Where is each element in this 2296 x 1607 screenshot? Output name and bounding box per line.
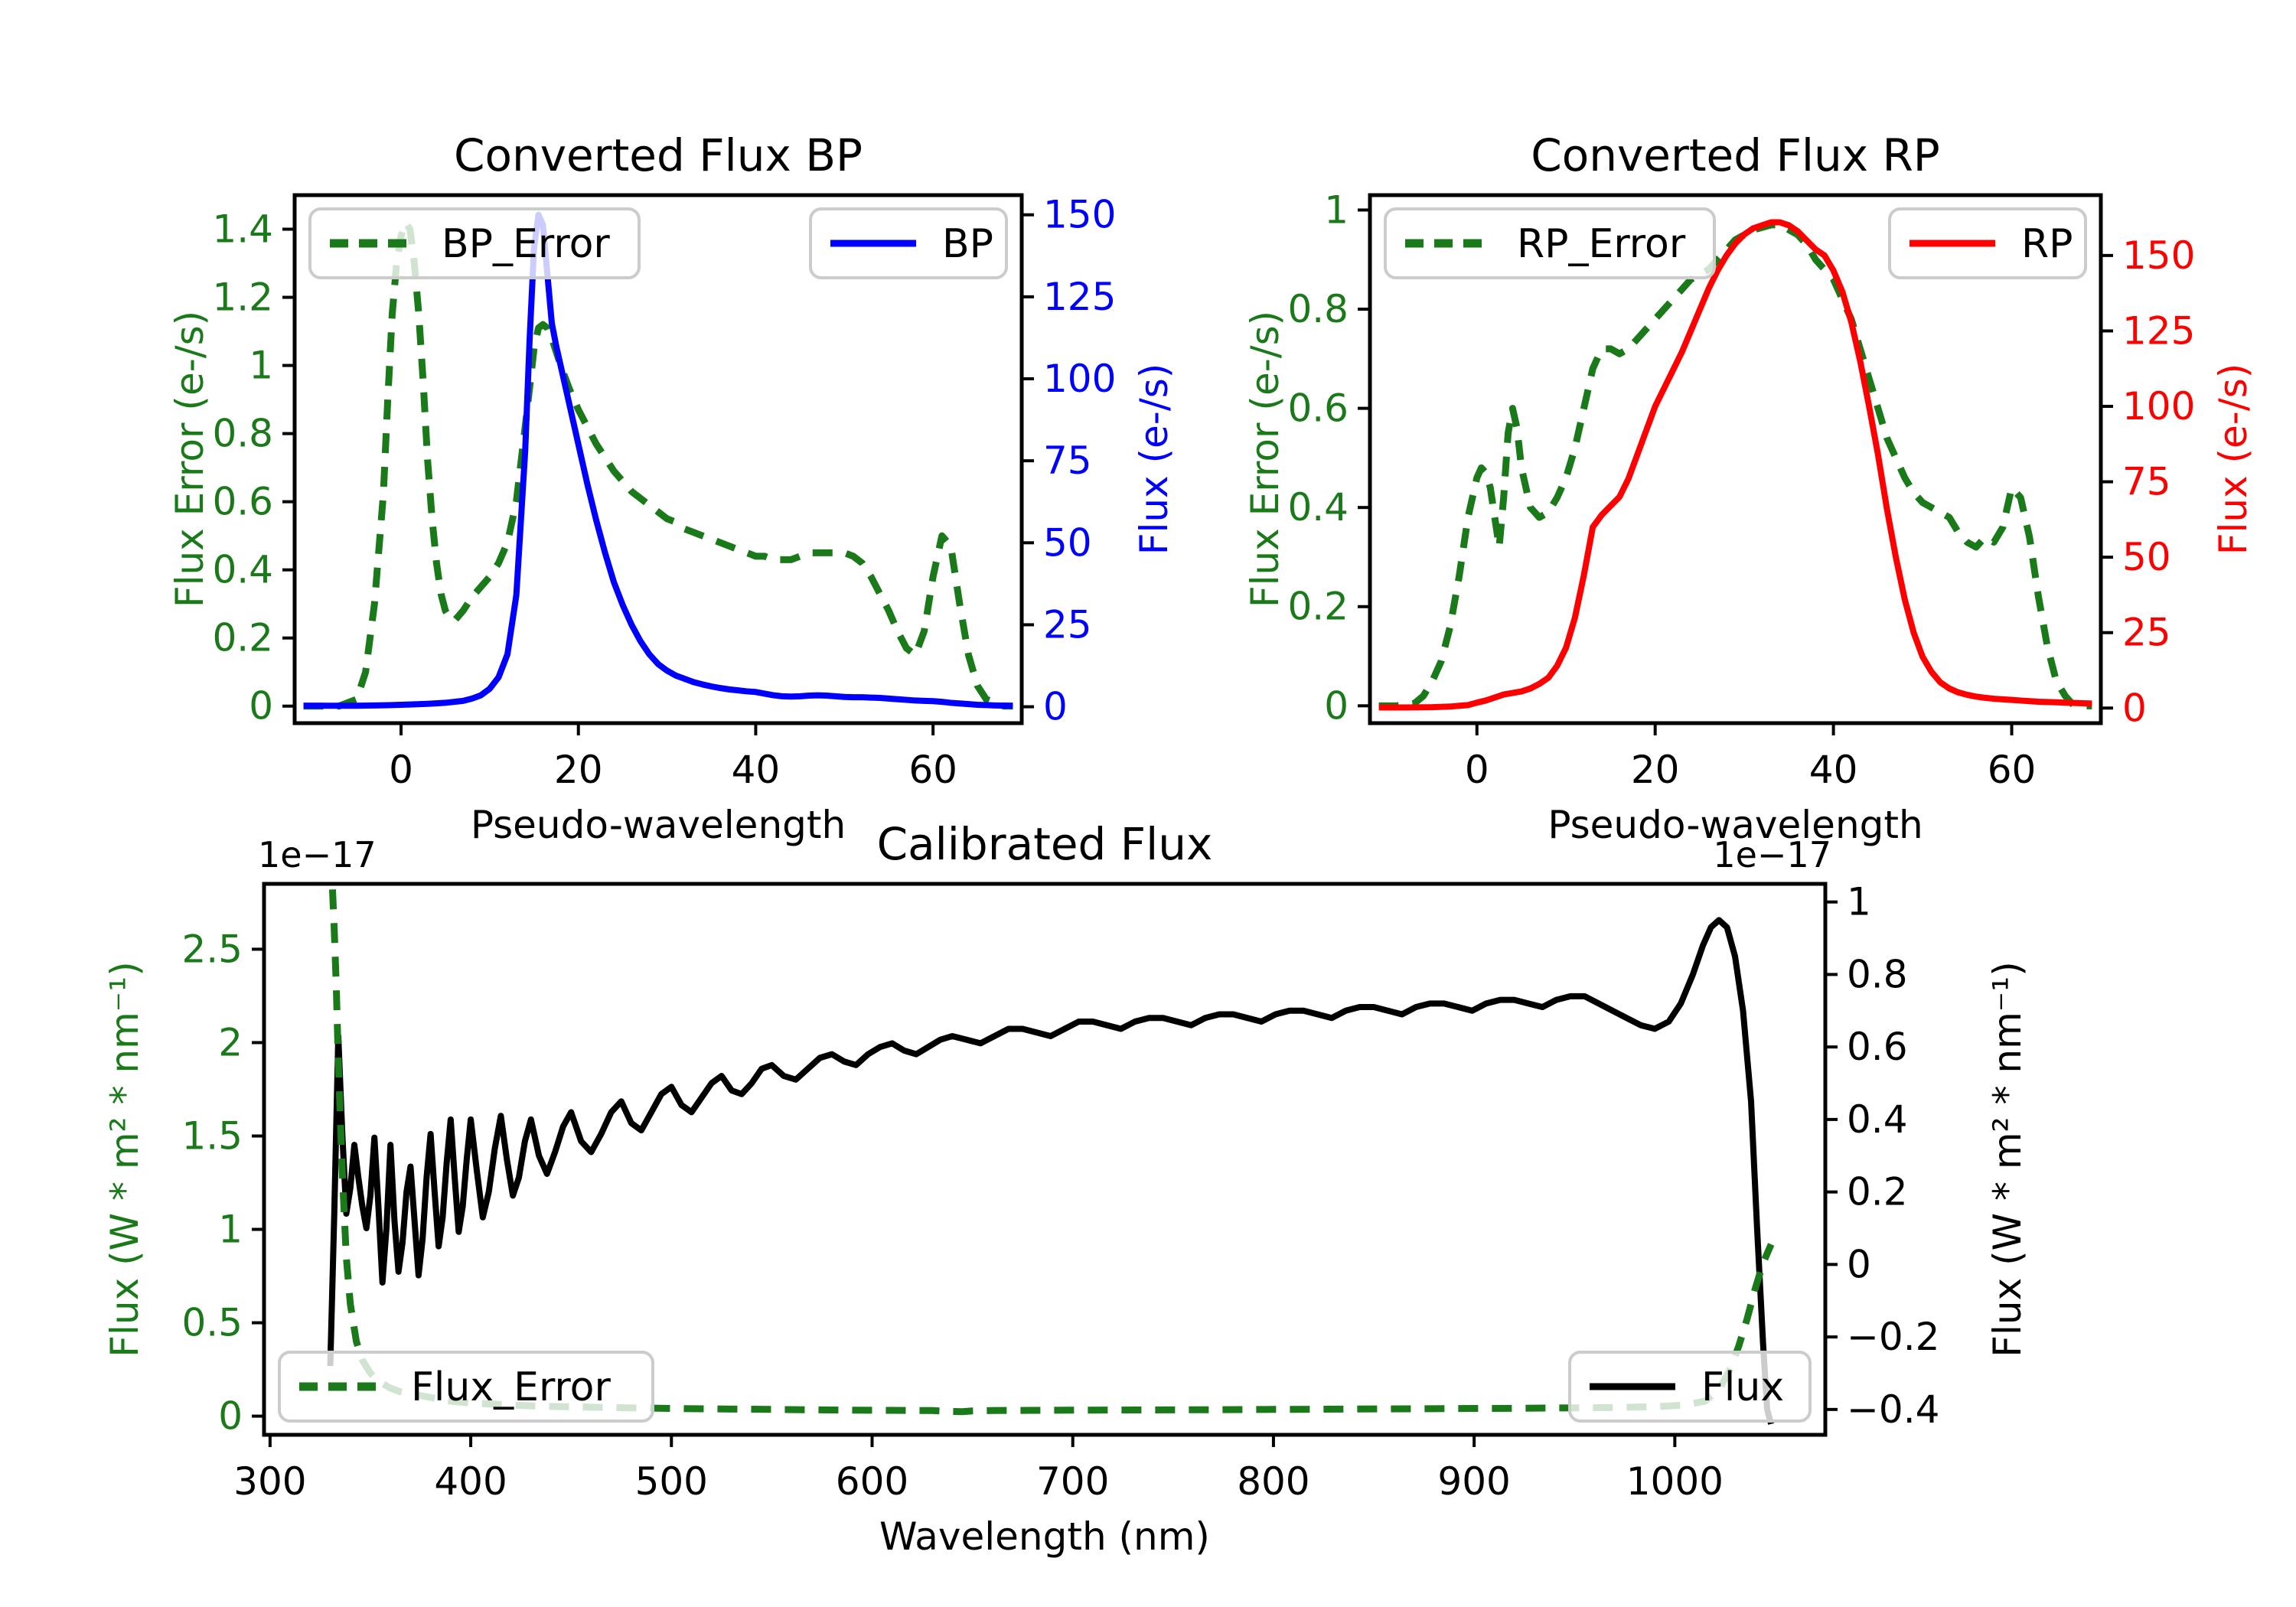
x-axis-label: Pseudo-wavelength: [471, 803, 846, 847]
y-tick-label-right: 50: [2122, 535, 2171, 579]
plot-panel-converted_flux_bp: Converted Flux BP0204060Pseudo-wavelengt…: [168, 129, 1176, 847]
y-offset-text-right: 1e−17: [1713, 834, 1831, 875]
y-axis-label-right: Flux (e-/s): [2211, 363, 2255, 556]
legend-label-bp: BP: [942, 221, 993, 267]
x-tick-label: 700: [1036, 1459, 1109, 1504]
y-tick-label-right: 0.8: [1847, 952, 1908, 996]
y-tick-label-left: 0.4: [212, 548, 273, 592]
plot-panel-converted_flux_rp: Converted Flux RP0204060Pseudo-wavelengt…: [1243, 129, 2255, 847]
y-axis-label-left: Flux Error (e-/s): [168, 311, 212, 608]
x-tick-label: 500: [635, 1459, 708, 1504]
y-tick-label-left: 2.5: [181, 927, 243, 971]
legend-label-rp_error: RP_Error: [1517, 221, 1686, 267]
y-tick-label-left: 1.4: [212, 207, 273, 252]
y-tick-label-right: 25: [1043, 602, 1092, 647]
y-tick-label-right: 50: [1043, 520, 1092, 565]
y-tick-label-right: 125: [1043, 275, 1116, 319]
series-line-bp_error: [304, 223, 1013, 706]
y-tick-label-right: 100: [2122, 384, 2195, 429]
y-tick-label-left: 0.5: [181, 1301, 243, 1345]
y-tick-label-left: 1: [1324, 187, 1349, 232]
x-tick-label: 0: [389, 748, 413, 792]
x-tick-label: 600: [836, 1459, 908, 1504]
y-tick-label-right: 25: [2122, 611, 2171, 655]
y-tick-label-right: 150: [1043, 193, 1116, 237]
legend-bp_error[interactable]: BP_Error: [310, 209, 639, 278]
y-tick-label-right: −0.2: [1847, 1315, 1939, 1359]
x-tick-label: 0: [1465, 748, 1489, 792]
y-tick-label-left: 0.6: [1287, 386, 1349, 431]
series-line-rp: [1379, 222, 2092, 707]
y-tick-label-left: 0.4: [1287, 485, 1349, 530]
y-axis-label-right: Flux (W * m² * nm⁻¹): [1985, 961, 2030, 1357]
y-tick-label-right: 0: [2122, 686, 2147, 730]
legend-rp[interactable]: RP: [1890, 209, 2086, 278]
y-tick-label-right: 0.6: [1847, 1025, 1908, 1069]
legend-label-flux: Flux: [1701, 1364, 1784, 1410]
y-tick-label-right: 100: [1043, 357, 1116, 401]
x-tick-label: 40: [732, 748, 781, 792]
y-tick-label-left: 0.6: [212, 480, 273, 524]
x-tick-label: 800: [1237, 1459, 1309, 1504]
figure-svg: Converted Flux BP0204060Pseudo-wavelengt…: [0, 0, 2296, 1607]
y-offset-text-left: 1e−17: [258, 834, 377, 875]
x-tick-label: 1000: [1626, 1459, 1724, 1504]
y-axis-label-left: Flux (W * m² * nm⁻¹): [103, 961, 147, 1357]
x-axis-label: Wavelength (nm): [879, 1514, 1210, 1559]
y-tick-label-right: 125: [2122, 308, 2195, 353]
y-tick-label-right: 1: [1847, 880, 1871, 924]
y-tick-label-left: 0.2: [212, 616, 273, 660]
y-tick-label-left: 0: [218, 1394, 243, 1439]
plot-title: Converted Flux BP: [454, 129, 863, 181]
y-tick-label-right: −0.4: [1847, 1387, 1939, 1432]
y-tick-label-left: 0.8: [1287, 287, 1349, 331]
legend-flux[interactable]: Flux: [1570, 1352, 1810, 1421]
plot-title: Calibrated Flux: [877, 818, 1213, 870]
series-line-rp_error: [1379, 225, 2092, 706]
legend-label-flux_error: Flux_Error: [411, 1364, 611, 1410]
y-tick-label-left: 0.2: [1287, 585, 1349, 629]
y-tick-label-left: 1.5: [181, 1113, 243, 1158]
y-tick-label-left: 2: [218, 1020, 243, 1064]
y-axis-label-right: Flux (e-/s): [1132, 363, 1176, 556]
y-tick-label-left: 0: [1324, 683, 1349, 728]
y-tick-label-left: 1: [218, 1208, 243, 1252]
x-tick-label: 40: [1809, 748, 1858, 792]
y-tick-label-right: 0.2: [1847, 1170, 1908, 1214]
series-line-flux: [331, 920, 1772, 1423]
y-axis-label-left: Flux Error (e-/s): [1243, 311, 1287, 608]
y-tick-label-right: 150: [2122, 233, 2195, 278]
x-tick-label: 20: [1631, 748, 1680, 792]
y-tick-label-right: 0: [1847, 1242, 1871, 1286]
y-tick-label-right: 0.4: [1847, 1097, 1908, 1142]
y-tick-label-right: 75: [2122, 460, 2171, 504]
y-tick-label-left: 1.2: [212, 275, 273, 320]
x-tick-label: 900: [1437, 1459, 1510, 1504]
legend-rp_error[interactable]: RP_Error: [1385, 209, 1714, 278]
x-tick-label: 300: [233, 1459, 306, 1504]
plot-panel-calibrated_flux: Calibrated Flux3004005006007008009001000…: [103, 818, 2030, 1559]
legend-label-rp: RP: [2021, 221, 2073, 267]
y-tick-label-left: 0.8: [212, 412, 273, 456]
x-tick-label: 60: [908, 748, 957, 792]
y-tick-label-left: 0: [249, 684, 273, 729]
legend-flux_error[interactable]: Flux_Error: [279, 1352, 653, 1421]
legend-label-bp_error: BP_Error: [442, 221, 610, 267]
series-line-flux_error: [331, 856, 1772, 1411]
y-tick-label-right: 0: [1043, 685, 1068, 729]
figure-canvas: Converted Flux BP0204060Pseudo-wavelengt…: [0, 0, 2296, 1607]
plot-title: Converted Flux RP: [1531, 129, 1940, 181]
y-tick-label-right: 75: [1043, 438, 1092, 483]
series-line-bp: [304, 215, 1013, 706]
y-tick-label-left: 1: [249, 344, 273, 388]
x-tick-label: 400: [434, 1459, 507, 1504]
x-tick-label: 60: [1988, 748, 2037, 792]
x-tick-label: 20: [554, 748, 603, 792]
legend-bp[interactable]: BP: [810, 209, 1006, 278]
